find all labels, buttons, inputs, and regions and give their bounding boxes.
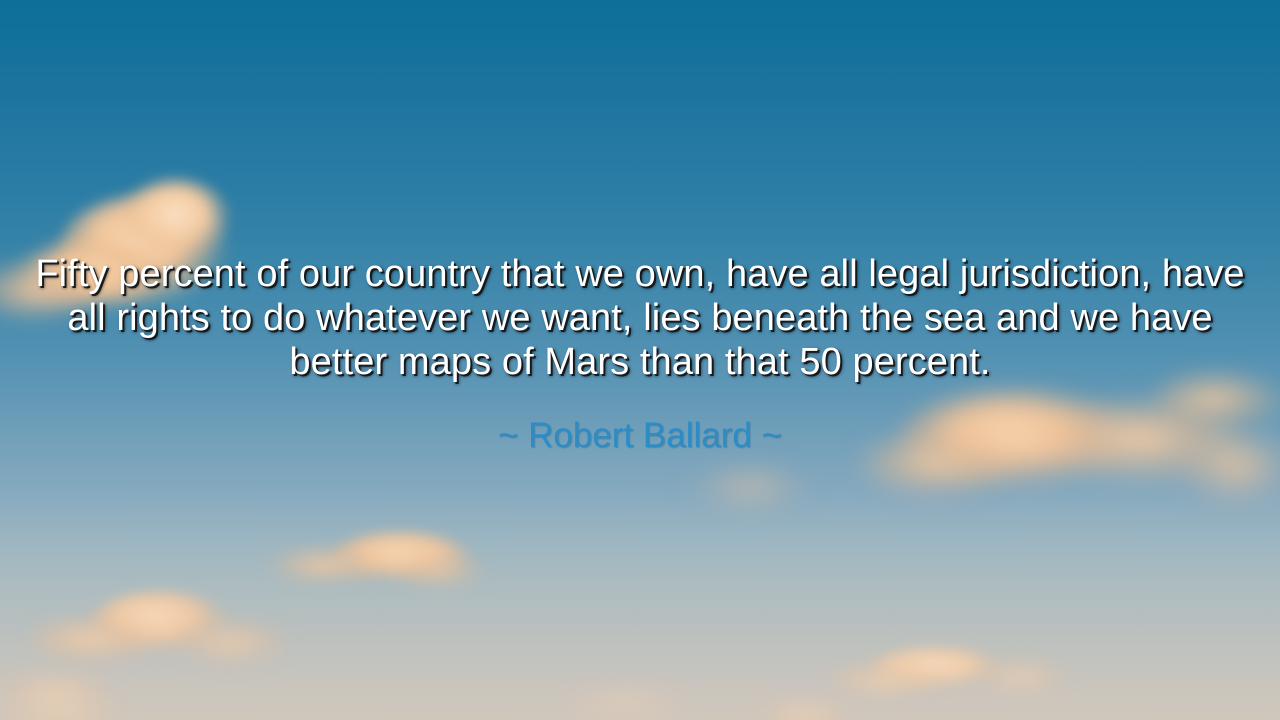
- quote-attribution: ~ Robert Ballard ~: [32, 384, 1248, 456]
- horizon-haze: [0, 490, 1280, 720]
- quote-slide: Fifty percent of our country that we own…: [0, 0, 1280, 720]
- quote-block: Fifty percent of our country that we own…: [0, 252, 1280, 456]
- quote-text: Fifty percent of our country that we own…: [32, 252, 1248, 384]
